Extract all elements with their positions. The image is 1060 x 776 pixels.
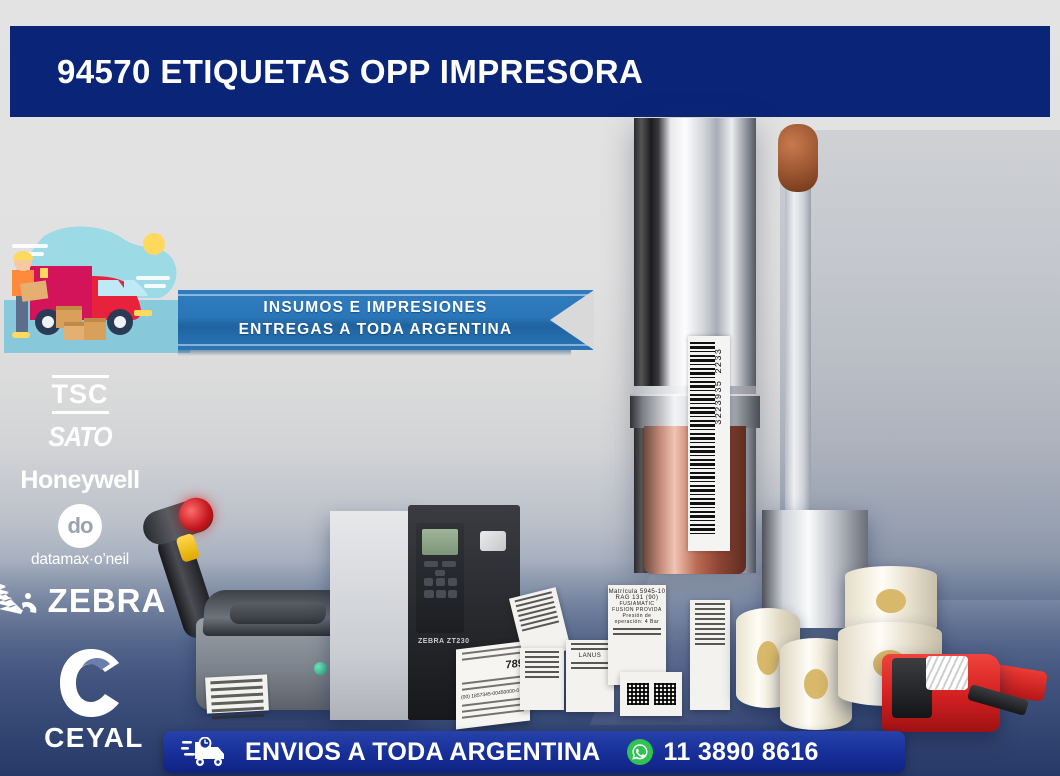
- applicator-brush-icon: [778, 124, 818, 192]
- zebra-head-icon: [0, 581, 40, 621]
- bottom-contact-bar[interactable]: ENVIOS A TODA ARGENTINA 11 3890 8616: [163, 731, 905, 773]
- brand-logo-datamax-oneil: do datamax·o’neil: [0, 502, 160, 570]
- label-card: [690, 600, 730, 710]
- ribbon-top-rule: [178, 294, 593, 296]
- industrial-label-printer: ZEBRA ZT230 7890 (00) 1857345-00450000-0: [330, 505, 520, 720]
- printed-label-sample: [205, 674, 269, 713]
- label-card: LANUS: [566, 640, 614, 712]
- ribbon-line-2: ENTREGAS A TODA ARGENTINA: [210, 319, 541, 341]
- ceyal-wordmark: CEYAL: [34, 722, 154, 754]
- ribbon-bottom-rule: [178, 344, 593, 346]
- brand-logo-list: TSC SATO Honeywell do datamax·o’neil: [0, 372, 160, 632]
- label-card: [520, 648, 564, 710]
- brand-label-datamax-oneil: datamax·o’neil: [31, 551, 129, 569]
- shipping-text: ENVIOS A TODA ARGENTINA: [245, 738, 601, 767]
- brand-logo-tsc: TSC: [0, 372, 160, 416]
- ceyal-logo: CEYAL: [34, 646, 154, 754]
- label-text-lanus: LANUS: [566, 653, 614, 659]
- product-photo-group: 3223935 2233: [610, 118, 910, 588]
- industrial-printer-side-panel: [330, 511, 416, 720]
- label-card: Matrícula 5945-10 RAG 131 (90) FUSIAMATI…: [608, 585, 666, 685]
- power-led-icon: [314, 662, 327, 675]
- delivery-truck-icon: [181, 737, 229, 767]
- ribbon-line-1: INSUMOS E IMPRESIONES: [210, 297, 541, 319]
- promo-image: 94570 ETIQUETAS OPP IMPRESORA: [0, 0, 1060, 776]
- delivery-illustration: [4, 218, 190, 353]
- brand-logo-zebra: ZEBRA: [0, 570, 160, 632]
- zebra-badge-icon: [480, 531, 506, 551]
- page-header: 94570 ETIQUETAS OPP IMPRESORA: [10, 26, 1050, 117]
- promo-ribbon: INSUMOS E IMPRESIONES ENTREGAS A TODA AR…: [178, 290, 593, 350]
- desktop-printer-window: [229, 602, 327, 624]
- printer-lcd-screen: [422, 529, 458, 555]
- printer-model-label: ZEBRA ZT230: [418, 638, 478, 645]
- barcode-bars: [690, 342, 715, 537]
- barcode-label: 3223935 2233: [688, 336, 730, 551]
- brand-label-zebra: ZEBRA: [48, 582, 167, 620]
- gun-label-tape: [926, 656, 968, 690]
- brand-label-honeywell: Honeywell: [20, 466, 139, 495]
- qr-code-icon: [654, 683, 676, 705]
- whatsapp-icon[interactable]: [627, 739, 653, 765]
- printer-keypad: [422, 561, 458, 601]
- delivery-van-icon: [4, 218, 190, 353]
- ribbon-shadow: [178, 350, 571, 356]
- brand-logo-sato: SATO: [0, 413, 160, 460]
- label-text-presion: Presión de operación: 4 Bar: [608, 613, 666, 625]
- datamax-circle-icon: do: [58, 504, 102, 548]
- printer-media-strip: 7890 (00) 1857345-00450000-0: [456, 640, 530, 729]
- label-card-qr: [620, 672, 682, 716]
- qr-code-icon: [627, 683, 649, 705]
- page-title: 94570 ETIQUETAS OPP IMPRESORA: [57, 55, 643, 88]
- brand-logo-honeywell: Honeywell: [0, 458, 160, 502]
- ceyal-c-icon: [57, 646, 131, 720]
- applicator-wand: [785, 140, 811, 570]
- brand-label-sato: SATO: [48, 421, 111, 453]
- ribbon-text: INSUMOS E IMPRESIONES ENTREGAS A TODA AR…: [210, 297, 541, 341]
- label-text-fusiamatic: FUSIAMATIC FUSION PROVIDA: [608, 601, 666, 613]
- phone-number[interactable]: 11 3890 8616: [664, 738, 819, 767]
- barcode-digits: 3223935 2233: [714, 348, 728, 425]
- brand-label-tsc: TSC: [52, 375, 109, 414]
